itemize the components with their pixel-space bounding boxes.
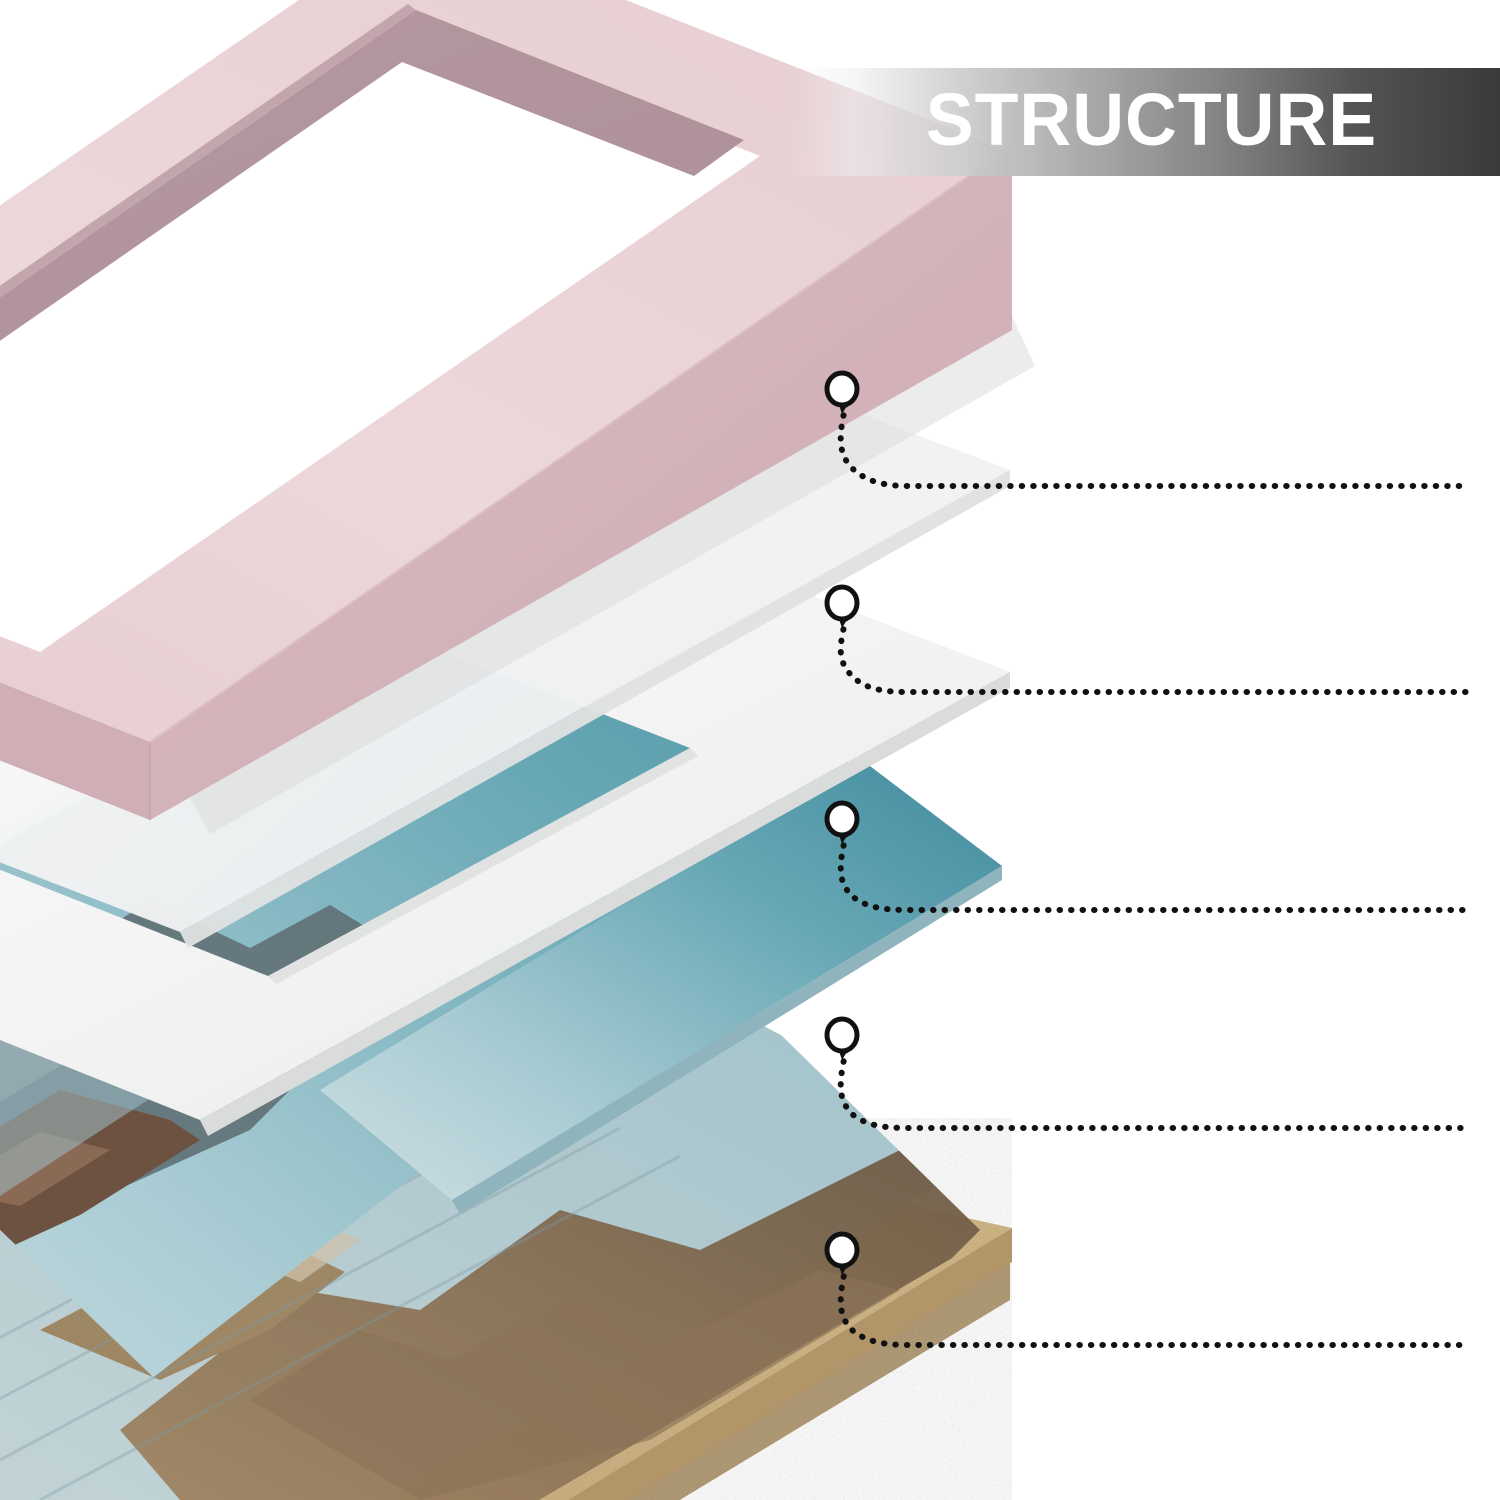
leader-line-plexiglass	[841, 618, 1470, 692]
leader-line-photo	[841, 1050, 1470, 1128]
callout-marker-mat[interactable]	[827, 803, 857, 844]
leader-line-wooden-frame	[841, 404, 1470, 486]
callout-marker-photo[interactable]	[827, 1019, 857, 1060]
callout-marker-plexiglass[interactable]	[827, 587, 857, 628]
callout-marker-backboard[interactable]	[827, 1234, 857, 1275]
callout-markers	[827, 373, 857, 1275]
leader-line-mat	[841, 834, 1470, 910]
callout-leader-lines	[0, 0, 1500, 1500]
callout-marker-wooden-frame[interactable]	[827, 373, 857, 414]
leader-line-backboard	[841, 1265, 1470, 1345]
product-structure-infographic: STRUCTURE	[0, 0, 1500, 1500]
